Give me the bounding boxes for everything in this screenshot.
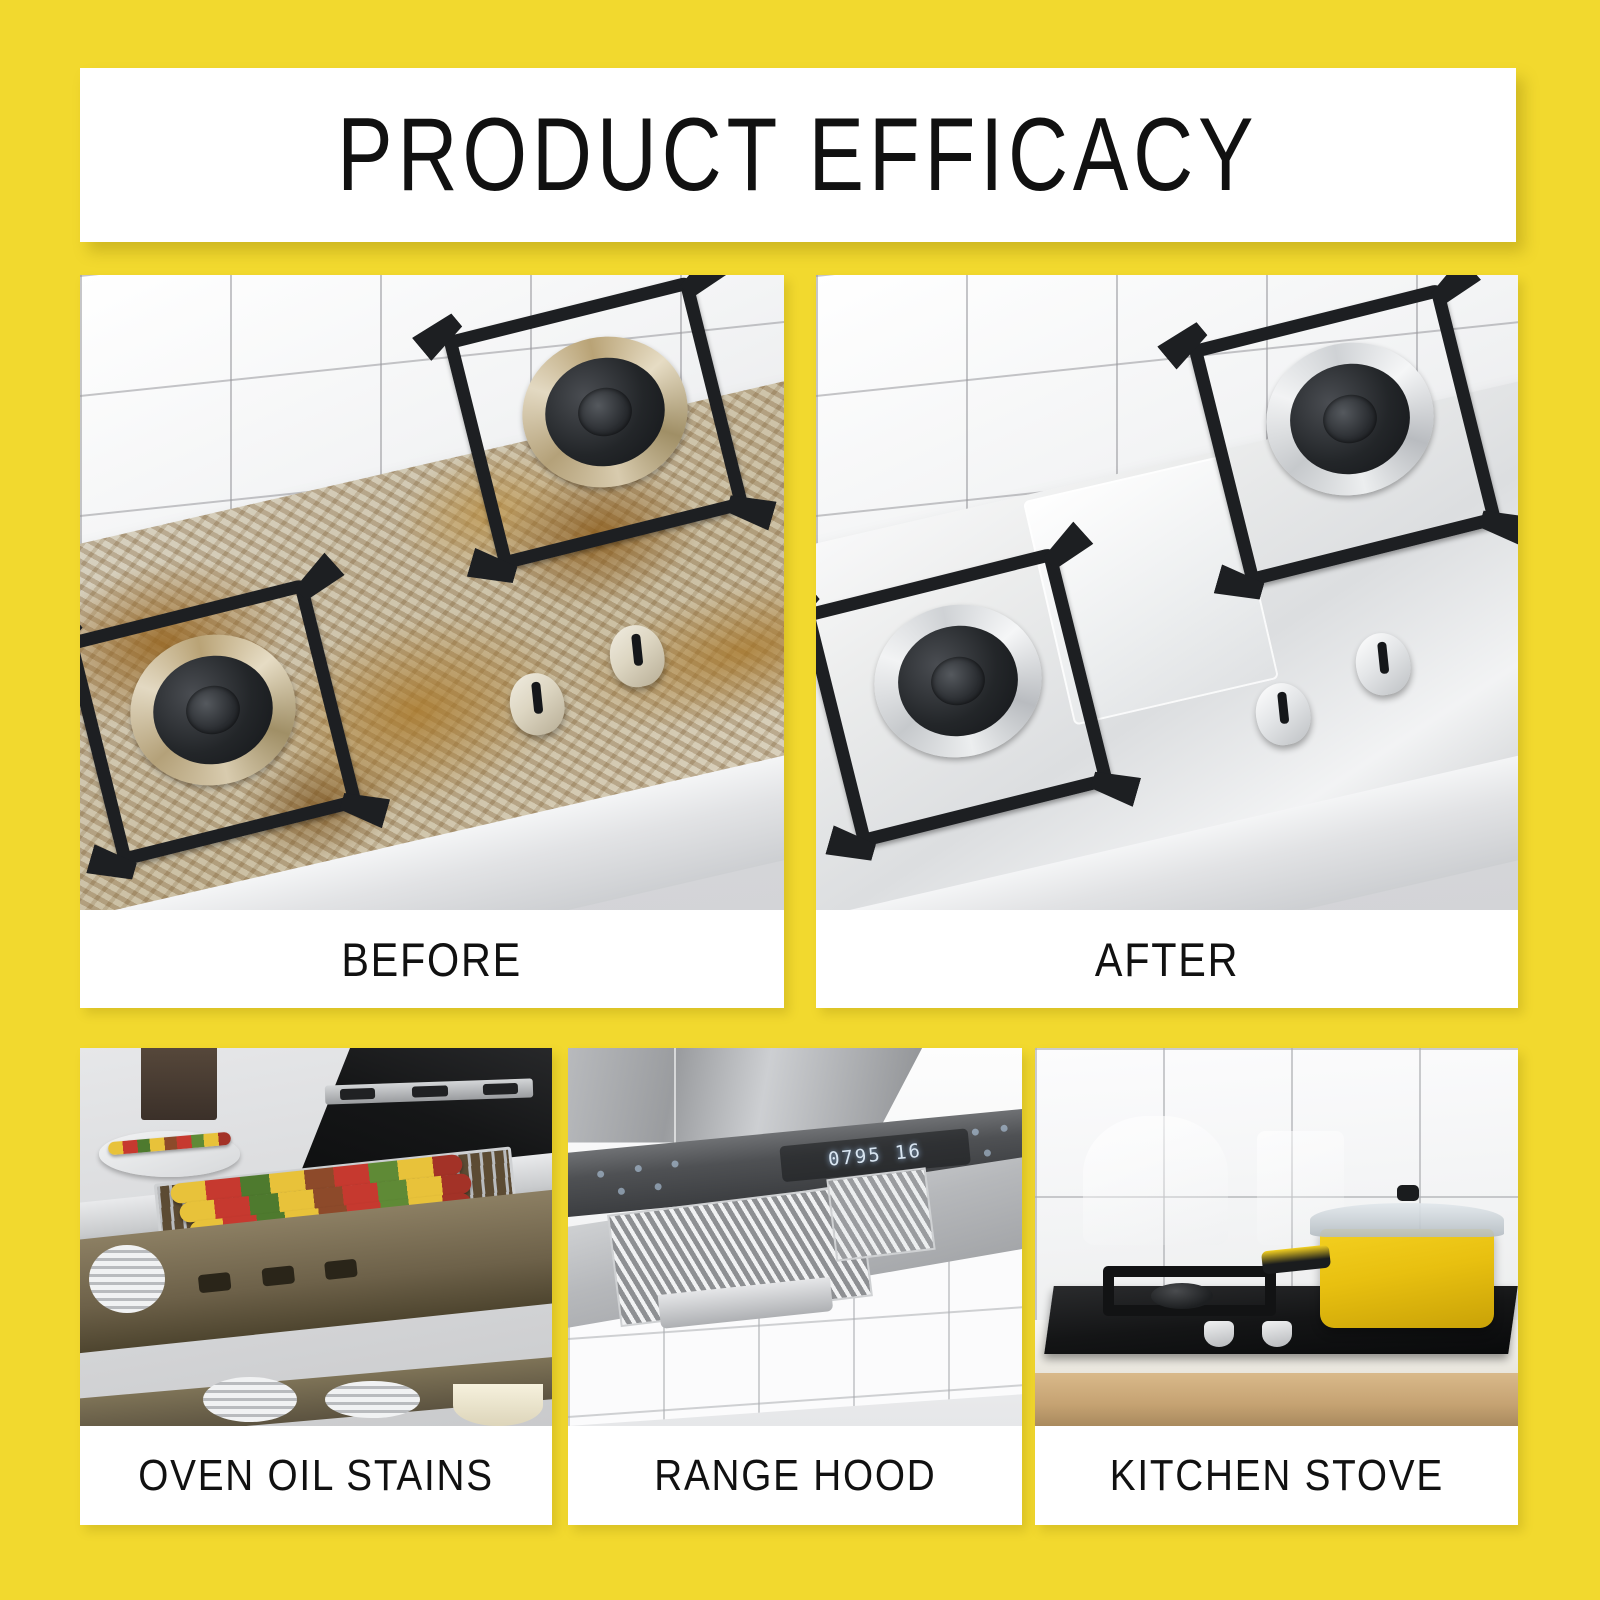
hood-caption-text: RANGE HOOD — [654, 1451, 936, 1501]
hood-photo: 0795 16 — [568, 1048, 1022, 1426]
oven-oil-stains-card: OVEN OIL STAINS — [80, 1048, 552, 1525]
before-caption-text: BEFORE — [342, 932, 523, 987]
hood-filter-right — [827, 1167, 936, 1262]
plate-stack-bottom — [203, 1377, 297, 1422]
wall-reflection-1 — [1083, 1116, 1228, 1245]
wood-floor — [1035, 1373, 1518, 1426]
stove-caption: KITCHEN STOVE — [1035, 1426, 1518, 1525]
cooktop-burner-left — [1151, 1283, 1213, 1309]
hood-caption: RANGE HOOD — [568, 1426, 1022, 1525]
touch-button-5[interactable] — [655, 1183, 663, 1191]
stove-photo — [1035, 1048, 1518, 1426]
touch-button-4[interactable] — [617, 1187, 625, 1195]
touch-button-8[interactable] — [983, 1150, 991, 1158]
pot-lid — [1310, 1203, 1503, 1237]
touch-button-1[interactable] — [596, 1170, 604, 1178]
hood-display-digits: 0795 16 — [827, 1140, 923, 1171]
oven-caption-text: OVEN OIL STAINS — [138, 1451, 494, 1501]
after-caption: AFTER — [816, 910, 1518, 1008]
after-caption-text: AFTER — [1095, 932, 1239, 987]
plate-stack-bottom-2 — [325, 1381, 419, 1419]
cooktop-knob-right[interactable] — [1262, 1321, 1292, 1347]
oven-caption: OVEN OIL STAINS — [80, 1426, 552, 1525]
cooktop-knob-left[interactable] — [1204, 1321, 1234, 1347]
oven-photo — [80, 1048, 552, 1426]
yellow-pot — [1320, 1229, 1494, 1327]
bowl — [453, 1384, 543, 1426]
kitchen-stove-card: KITCHEN STOVE — [1035, 1048, 1518, 1525]
page-title: PRODUCT EFFICACY — [337, 103, 1258, 207]
page-title-card: PRODUCT EFFICACY — [80, 68, 1516, 242]
after-photo — [816, 275, 1518, 910]
touch-button-3[interactable] — [671, 1160, 679, 1168]
touch-button-6[interactable] — [972, 1129, 980, 1137]
before-photo — [80, 275, 784, 910]
touch-button-7[interactable] — [1000, 1125, 1008, 1133]
before-caption: BEFORE — [80, 910, 784, 1008]
range-hood-card: 0795 16 RANGE HOOD — [568, 1048, 1022, 1525]
stove-caption-text: KITCHEN STOVE — [1109, 1451, 1443, 1501]
canister — [141, 1048, 217, 1120]
plate-stack-left — [89, 1245, 165, 1313]
before-card: BEFORE — [80, 275, 784, 1008]
touch-button-2[interactable] — [634, 1165, 642, 1173]
after-card: AFTER — [816, 275, 1518, 1008]
